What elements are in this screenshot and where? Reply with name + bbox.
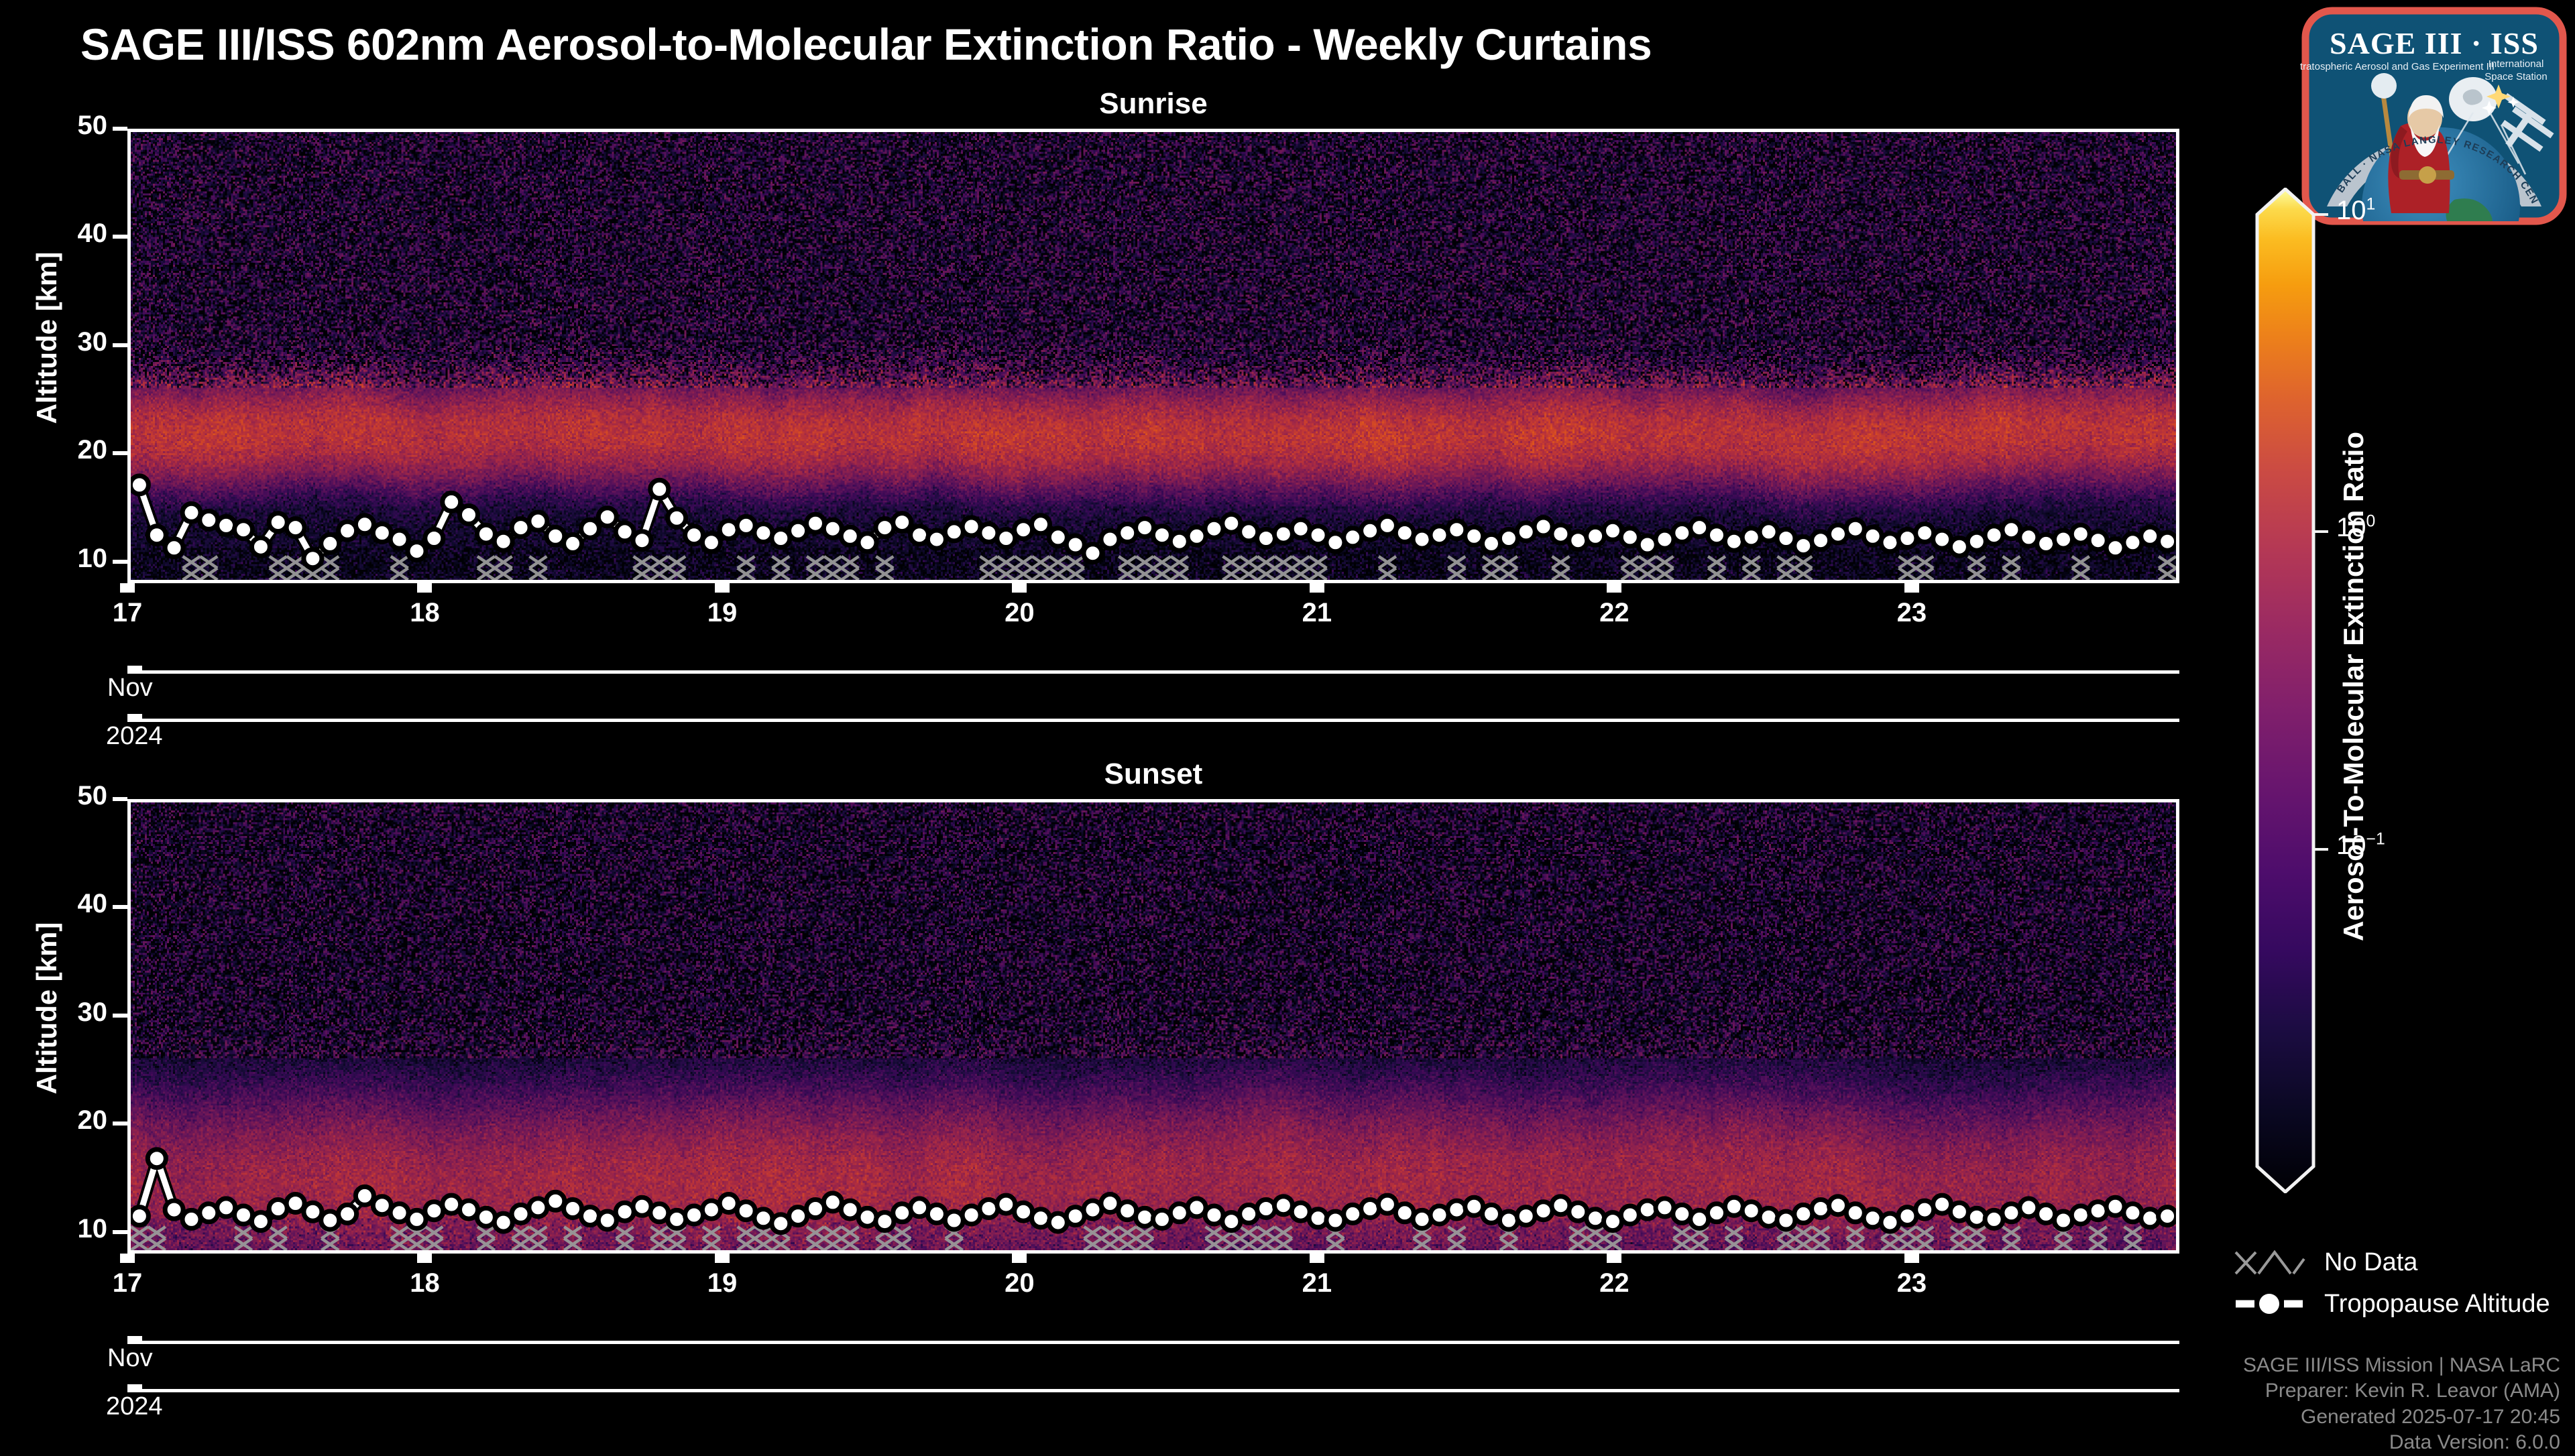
dashed-line-dot-icon <box>2233 1288 2307 1319</box>
x-tick-18: 18 <box>374 1268 475 1298</box>
legend: No Data Tropopause Altitude <box>2233 1247 2568 1341</box>
y-tick-50: 50 <box>7 111 107 141</box>
x-tick-17: 17 <box>77 1268 178 1298</box>
x-tick-19: 19 <box>672 598 772 628</box>
colorbar[interactable]: 10210110010−1 Aerosol-To-Molecular Extin… <box>2246 188 2528 1193</box>
x-tickmark-19 <box>715 1254 730 1263</box>
legend-item-tropopause[interactable]: Tropopause Altitude <box>2233 1288 2550 1319</box>
footer-line-generated: Generated 2025-07-17 20:45 <box>1837 1404 2560 1430</box>
x-tickmark-23 <box>1904 1254 1919 1263</box>
y-tick-20: 20 <box>7 1105 107 1136</box>
panel-sunset: Sunset Altitude [km] 5040302010 17181920… <box>0 757 2240 1448</box>
x-tickmark-20 <box>1012 583 1027 593</box>
month-span-line-sunset <box>127 1341 2179 1344</box>
y-tickmark-40 <box>113 905 127 909</box>
year-span-tick-sunset <box>127 1384 142 1392</box>
x-tickmark-17 <box>120 583 135 593</box>
y-tickmark-50 <box>113 127 127 131</box>
y-tick-50: 50 <box>7 781 107 811</box>
colorbar-tickmark <box>2313 530 2328 533</box>
x-tick-21: 21 <box>1267 598 1367 628</box>
year-label-sunset: 2024 <box>106 1392 163 1421</box>
figure-root: SAGE III/ISS 602nm Aerosol-to-Molecular … <box>0 0 2575 1448</box>
y-tickmark-10 <box>113 560 127 564</box>
y-tick-30: 30 <box>7 327 107 357</box>
legend-label-tropopause: Tropopause Altitude <box>2324 1290 2550 1319</box>
x-tick-22: 22 <box>1564 1268 1664 1298</box>
y-tickmark-30 <box>113 1014 127 1018</box>
footer-line-preparer: Preparer: Kevin R. Leavor (AMA) <box>1837 1378 2560 1404</box>
year-span-line-sunrise <box>127 719 2179 722</box>
heatmap-sunset[interactable] <box>127 799 2179 1254</box>
y-tick-30: 30 <box>7 997 107 1028</box>
year-label-sunrise: 2024 <box>106 722 163 751</box>
y-tick-40: 40 <box>7 219 107 249</box>
x-tick-17: 17 <box>77 598 178 628</box>
x-tickmark-21 <box>1310 583 1324 593</box>
month-label-sunset: Nov <box>107 1344 153 1373</box>
heatmap-canvas-sunset <box>131 802 2176 1250</box>
colorbar-gradient <box>2246 188 2327 1193</box>
y-tick-10: 10 <box>7 1214 107 1244</box>
y-tickmark-10 <box>113 1230 127 1234</box>
x-tickmark-17 <box>120 1254 135 1263</box>
patch-subtitle-left: Stratospheric Aerosol and Gas Experiment… <box>2300 61 2495 72</box>
patch-title: SAGE III · ISS <box>2330 26 2539 60</box>
footer-line-version: Data Version: 6.0.0 <box>1837 1430 2560 1455</box>
x-tickmark-23 <box>1904 583 1919 593</box>
month-span-tick-sunset <box>127 1336 142 1344</box>
colorbar-tickmark <box>2313 213 2328 216</box>
month-label-sunrise: Nov <box>107 674 153 703</box>
panel-title-sunrise: Sunrise <box>127 87 2179 121</box>
x-tick-22: 22 <box>1564 598 1664 628</box>
panel-title-sunset: Sunset <box>127 757 2179 791</box>
legend-item-no-data[interactable]: No Data <box>2233 1247 2417 1278</box>
x-tick-21: 21 <box>1267 1268 1367 1298</box>
y-tick-40: 40 <box>7 889 107 919</box>
y-tickmark-20 <box>113 451 127 455</box>
y-tickmark-50 <box>113 797 127 801</box>
patch-subtitle-right-1: International <box>2488 58 2544 70</box>
x-tickmark-18 <box>417 1254 432 1263</box>
x-tickmark-22 <box>1607 583 1621 593</box>
footer-line-mission: SAGE III/ISS Mission | NASA LaRC <box>1837 1353 2560 1378</box>
footer: SAGE III/ISS Mission | NASA LaRC Prepare… <box>1837 1353 2560 1456</box>
x-tick-18: 18 <box>374 598 475 628</box>
x-tickmark-20 <box>1012 1254 1027 1263</box>
legend-label-no-data: No Data <box>2324 1248 2417 1277</box>
x-tickmark-22 <box>1607 1254 1621 1263</box>
x-tickmark-19 <box>715 583 730 593</box>
colorbar-tickmark <box>2313 848 2328 851</box>
x-tickmark-18 <box>417 583 432 593</box>
heatmap-sunrise[interactable] <box>127 129 2179 583</box>
x-tick-23: 23 <box>1862 1268 1962 1298</box>
year-span-tick-sunrise <box>127 714 142 722</box>
panel-sunrise: Sunrise Altitude [km] 5040302010 1718192… <box>0 0 2240 751</box>
month-span-line-sunrise <box>127 670 2179 674</box>
colorbar-label: Aerosol-To-Molecular Extinction Ratio <box>2338 318 2370 1055</box>
colorbar-ticklabel: 101 <box>2336 196 2375 226</box>
x-tick-20: 20 <box>969 598 1070 628</box>
x-tickmark-21 <box>1310 1254 1324 1263</box>
y-tickmark-40 <box>113 235 127 239</box>
y-tickmark-30 <box>113 343 127 347</box>
y-tickmark-20 <box>113 1121 127 1126</box>
x-tick-19: 19 <box>672 1268 772 1298</box>
month-span-tick-sunrise <box>127 666 142 674</box>
y-tick-10: 10 <box>7 544 107 574</box>
x-tick-23: 23 <box>1862 598 1962 628</box>
y-tick-20: 20 <box>7 435 107 465</box>
heatmap-canvas-sunrise <box>131 132 2176 580</box>
patch-subtitle-right-2: Space Station <box>2484 71 2547 82</box>
x-tick-20: 20 <box>969 1268 1070 1298</box>
hatch-x-icon <box>2233 1247 2307 1278</box>
